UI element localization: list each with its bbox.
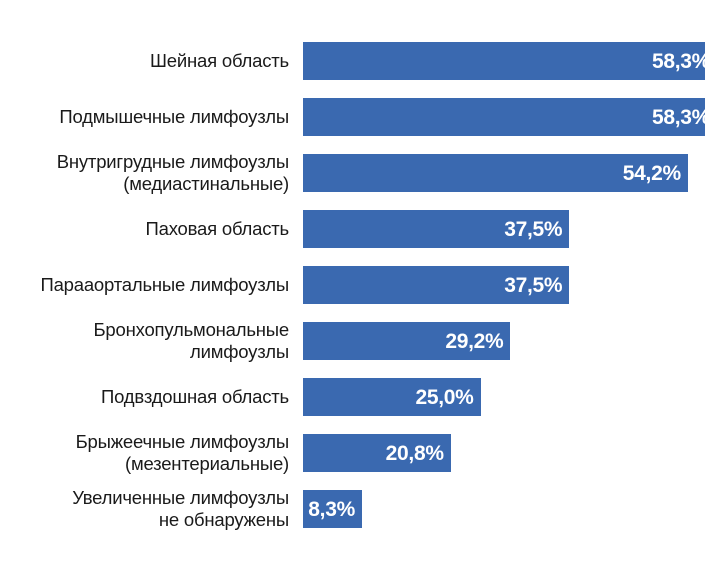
bar[interactable]: 58,3% xyxy=(303,98,705,136)
category-label: Подмышечные лимфоузлы xyxy=(0,106,291,128)
bar[interactable]: 37,5% xyxy=(303,266,569,304)
category-label: Бронхопульмональные лимфоузлы xyxy=(0,319,291,363)
bar-value-label: 8,3% xyxy=(308,499,362,520)
horizontal-bar-chart: Шейная область 58,3% Подмышечные лимфоуз… xyxy=(0,0,705,562)
bar-row: Брыжеечные лимфоузлы (мезентериальные) 2… xyxy=(0,434,705,472)
bar-value-label: 54,2% xyxy=(623,163,688,184)
category-label: Шейная область xyxy=(0,50,291,72)
bar-row: Паховая область 37,5% xyxy=(0,210,705,248)
bar-track: 20,8% xyxy=(291,434,705,472)
bar[interactable]: 25,0% xyxy=(303,378,481,416)
category-label: Паховая область xyxy=(0,218,291,240)
bar-row: Бронхопульмональные лимфоузлы 29,2% xyxy=(0,322,705,360)
bar-track: 37,5% xyxy=(291,266,705,304)
bar-track: 8,3% xyxy=(291,490,705,528)
bar-track: 58,3% xyxy=(291,42,705,80)
bar-value-label: 20,8% xyxy=(386,443,451,464)
bar-value-label: 29,2% xyxy=(445,331,510,352)
bar[interactable]: 37,5% xyxy=(303,210,569,248)
bar-row: Увеличенные лимфоузлы не обнаружены 8,3% xyxy=(0,490,705,528)
bar-track: 54,2% xyxy=(291,154,705,192)
bar-row: Парааортальные лимфоузлы 37,5% xyxy=(0,266,705,304)
bar-row: Подвздошная область 25,0% xyxy=(0,378,705,416)
category-label: Увеличенные лимфоузлы не обнаружены xyxy=(0,487,291,531)
category-label: Брыжеечные лимфоузлы (мезентериальные) xyxy=(0,431,291,475)
bar[interactable]: 20,8% xyxy=(303,434,451,472)
bar[interactable]: 54,2% xyxy=(303,154,688,192)
bar-track: 25,0% xyxy=(291,378,705,416)
bar-value-label: 58,3% xyxy=(652,51,705,72)
bar-row: Подмышечные лимфоузлы 58,3% xyxy=(0,98,705,136)
bar-value-label: 37,5% xyxy=(504,219,569,240)
bar[interactable]: 58,3% xyxy=(303,42,705,80)
bar-row: Внутригрудные лимфоузлы (медиастинальные… xyxy=(0,154,705,192)
bar-row: Шейная область 58,3% xyxy=(0,42,705,80)
category-label: Подвздошная область xyxy=(0,386,291,408)
category-label: Парааортальные лимфоузлы xyxy=(0,274,291,296)
bar-track: 58,3% xyxy=(291,98,705,136)
bar-track: 37,5% xyxy=(291,210,705,248)
bar[interactable]: 29,2% xyxy=(303,322,510,360)
bar[interactable]: 8,3% xyxy=(303,490,362,528)
bar-track: 29,2% xyxy=(291,322,705,360)
bar-value-label: 58,3% xyxy=(652,107,705,128)
bar-value-label: 37,5% xyxy=(504,275,569,296)
bar-value-label: 25,0% xyxy=(415,387,480,408)
category-label: Внутригрудные лимфоузлы (медиастинальные… xyxy=(0,151,291,195)
